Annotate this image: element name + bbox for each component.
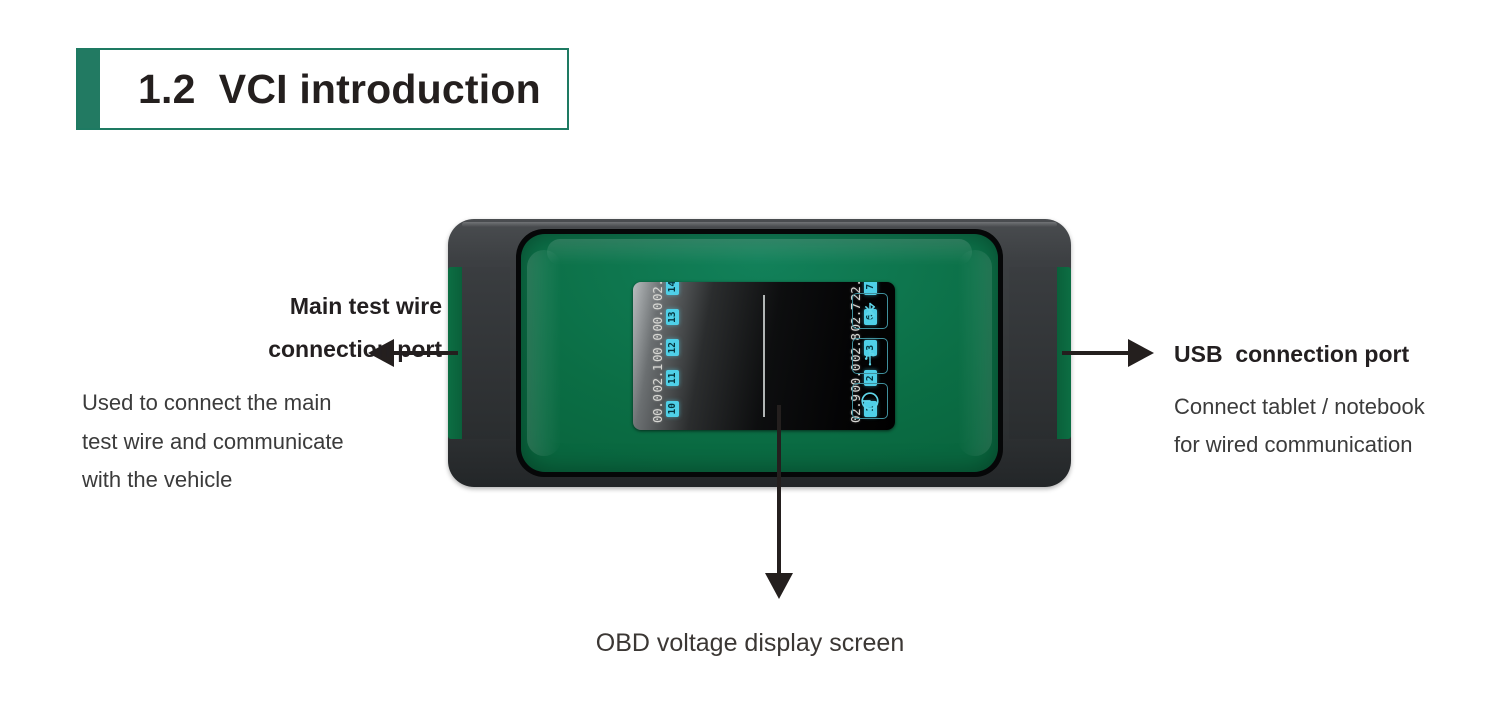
device-shell-highlight bbox=[462, 222, 1057, 227]
bluetooth-icon bbox=[852, 293, 888, 329]
callout-left-body: Used to connect the main test wire and c… bbox=[82, 384, 442, 500]
lcd-pin-voltage: 02.1 bbox=[651, 364, 664, 393]
down-arrow-icon bbox=[765, 573, 793, 599]
section-heading: 1.2 VCI introduction bbox=[76, 48, 569, 130]
lcd-pin-number: 11 bbox=[666, 370, 679, 386]
callout-obd-screen: OBD voltage display screen bbox=[0, 620, 1500, 666]
callout-left-title: Main test wire connection port bbox=[82, 285, 442, 370]
page-title: 1.2 VCI introduction bbox=[138, 69, 541, 110]
body-bevel-right bbox=[958, 250, 992, 456]
callout-bottom-title: OBD voltage display screen bbox=[0, 620, 1500, 666]
page-root: 1.2 VCI introduction 00.01002.11100.0120… bbox=[0, 0, 1500, 720]
callout-main-test-wire: Main test wire connection port Used to c… bbox=[82, 285, 442, 500]
obd-voltage-display-screen: 00.01002.11100.01200.01302.41400.01512.2… bbox=[633, 282, 895, 430]
bottom-callout-line bbox=[777, 405, 781, 577]
right-arrow-icon bbox=[1128, 339, 1154, 367]
lcd-pin-number: 13 bbox=[666, 309, 679, 325]
lcd-pin-voltage: 00.0 bbox=[651, 303, 664, 332]
lcd-pin-voltage: 02.4 bbox=[651, 282, 664, 301]
heading-accent-block bbox=[78, 50, 100, 128]
lcd-pin-number: 14 bbox=[666, 282, 679, 295]
device-left-grip bbox=[462, 267, 510, 439]
lcd-pin-cell: 02.414 bbox=[651, 282, 679, 301]
lcd-pin-number: 12 bbox=[666, 339, 679, 355]
screen-surface: 00.01002.11100.01200.01302.41400.01512.2… bbox=[633, 282, 895, 430]
body-bevel-left bbox=[527, 250, 561, 456]
lcd-pin-cell: 00.012 bbox=[651, 333, 679, 362]
vci-device: 00.01002.11100.01200.01302.41400.01512.2… bbox=[448, 219, 1071, 487]
lcd-pin-voltage: 00.0 bbox=[651, 333, 664, 362]
lcd-pin-voltage: 00.0 bbox=[651, 394, 664, 423]
callout-usb-port: USB connection port Connect tablet / not… bbox=[1174, 333, 1494, 465]
lcd-pin-cell: 02.111 bbox=[651, 364, 679, 393]
lcd-pin-cell: 00.010 bbox=[651, 394, 679, 423]
callout-right-body: Connect tablet / notebook for wired comm… bbox=[1174, 388, 1494, 465]
lcd-row-top: 00.01002.11100.01200.01302.41400.01512.2… bbox=[642, 289, 688, 423]
device-right-grip bbox=[1009, 267, 1057, 439]
right-callout-line bbox=[1062, 351, 1134, 355]
power-icon bbox=[852, 383, 888, 419]
status-icon-column bbox=[850, 288, 890, 424]
callout-right-title: USB connection port bbox=[1174, 333, 1494, 376]
heading-text-box: 1.2 VCI introduction bbox=[100, 50, 567, 128]
lcd-pin-cell: 00.013 bbox=[651, 303, 679, 332]
usb-icon bbox=[852, 338, 888, 374]
lcd-divider bbox=[763, 295, 765, 417]
lcd-pin-number: 10 bbox=[666, 401, 679, 417]
body-bevel-top bbox=[547, 239, 972, 265]
